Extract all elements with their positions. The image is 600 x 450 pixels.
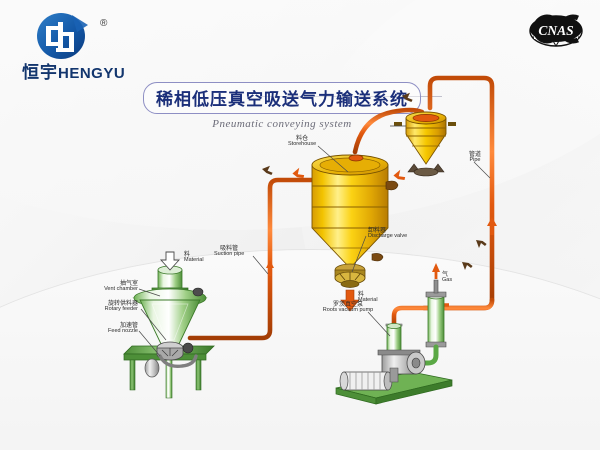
tick-right: [476, 240, 487, 248]
leader-pipe: [474, 162, 490, 178]
equipment-discharge-valve: [335, 264, 365, 288]
tick-top: [402, 93, 413, 102]
leader-suction-pipe: [253, 256, 268, 274]
label-storehouse: 料仓 Storehouse: [288, 136, 316, 148]
silo-cone-nozzle: [372, 253, 383, 261]
silo-side-nozzle: [386, 181, 398, 190]
tick-right2: [462, 262, 473, 270]
arrow-suction-up: [266, 260, 274, 276]
label-vent-chamber: 抽气室 Vent chamber: [86, 281, 138, 293]
label-feed-nozzle: 加速管 Feed nozzle: [86, 323, 138, 335]
label-gas: 气 Gas: [442, 272, 452, 284]
pump-motor: [340, 372, 392, 390]
pipe-suction: [190, 180, 330, 338]
arrow-down-right: [487, 217, 497, 235]
equipment-storehouse: [312, 155, 398, 268]
label-suction-pipe: 吸料管 Suction pipe: [214, 246, 244, 258]
label-discharge-valve: 卸料器 Discharge valve: [368, 228, 407, 240]
label-pipe: 管道 Pipe: [458, 152, 492, 164]
diagram-canvas: ® 恒宇HENGYU ISO IAF: [0, 0, 600, 450]
tick-suction: [262, 166, 273, 175]
label-material-inlet: 料 Material: [184, 252, 204, 264]
label-roots-pump: 罗茨真空泵 Roots vacuum pump: [322, 302, 374, 314]
process-flow-diagram: [0, 0, 600, 450]
label-rotary-feeder: 旋转供料器 Rotary feeder: [78, 301, 138, 313]
equipment-cyclone-separator: [390, 112, 456, 176]
